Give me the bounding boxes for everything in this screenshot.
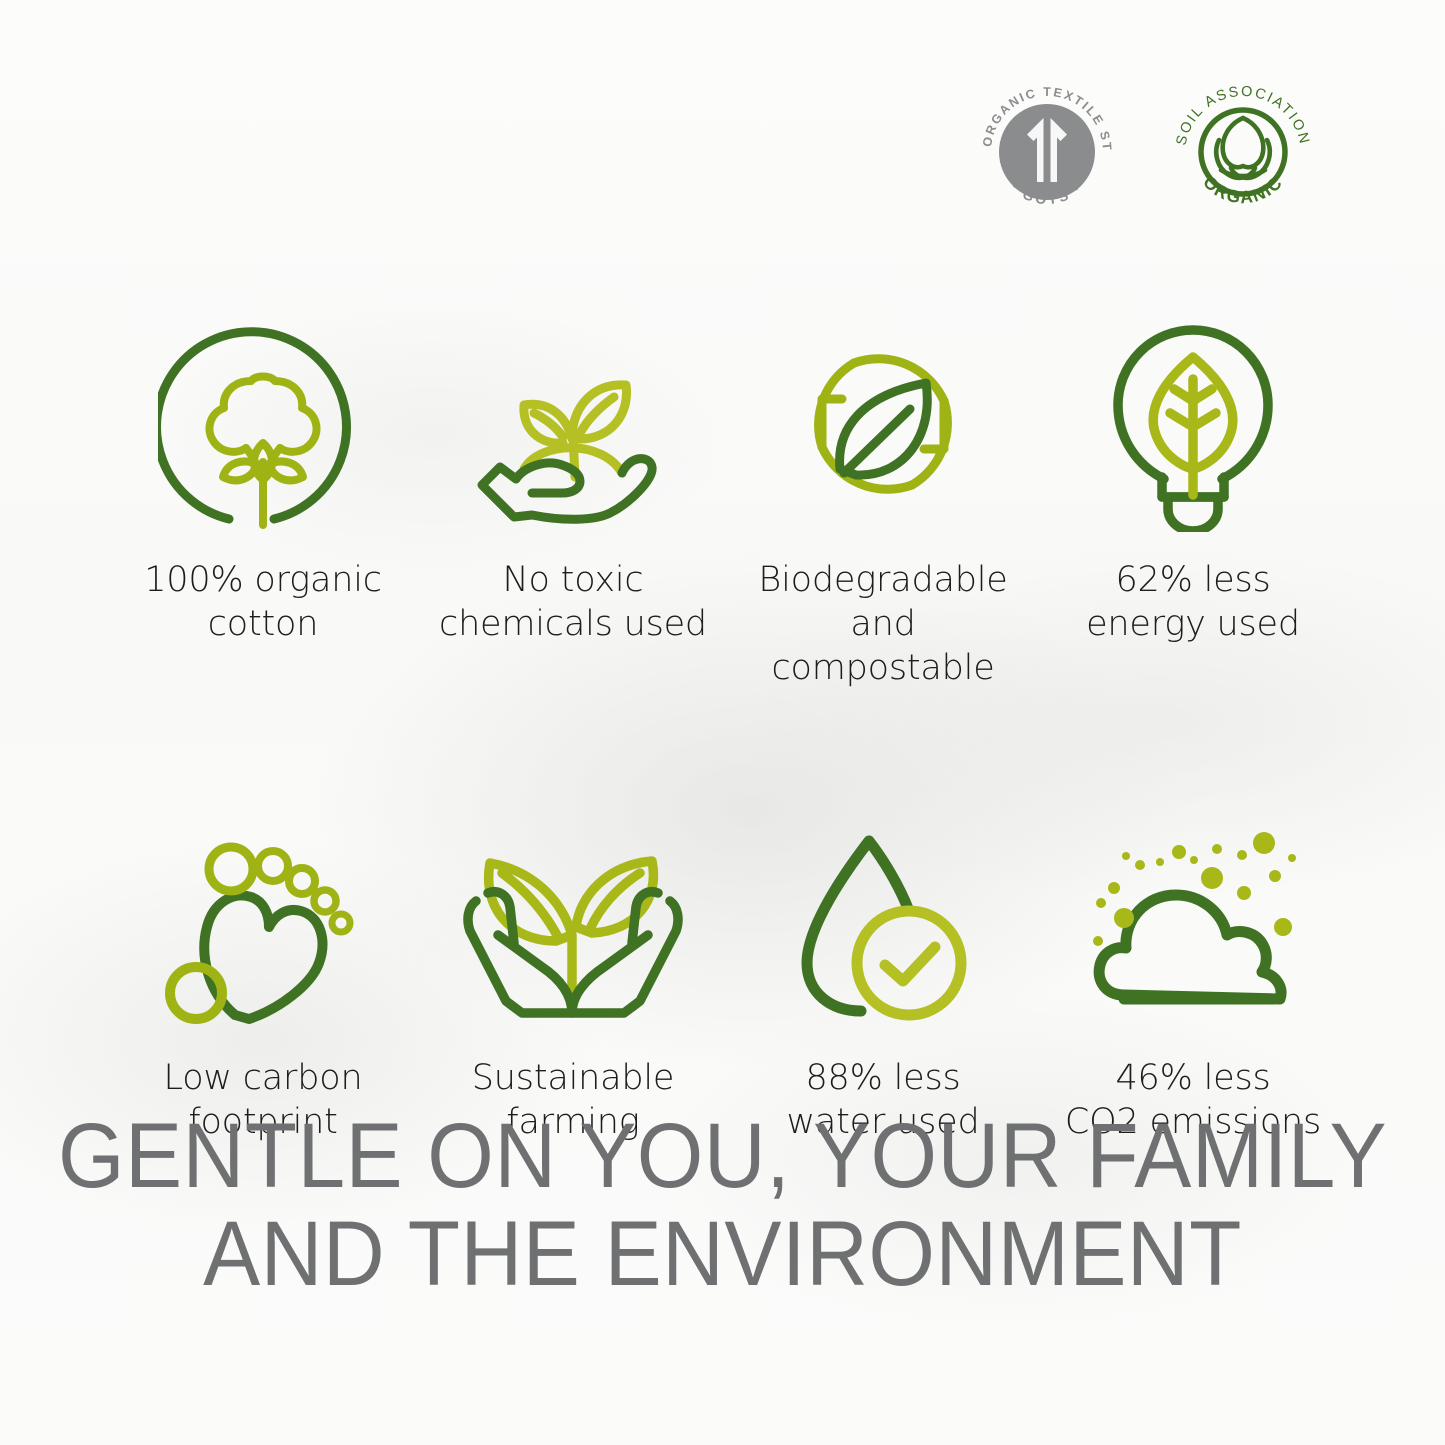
icon-container bbox=[462, 798, 684, 1030]
feature-label: Biodegradable and compostable bbox=[728, 558, 1038, 690]
feature-item-less-energy: 62% less energy used bbox=[1038, 300, 1348, 690]
feature-label: 100% organic cotton bbox=[144, 558, 382, 646]
cloud-emissions-icon bbox=[1084, 815, 1302, 1030]
heart-footprint-icon bbox=[163, 815, 363, 1030]
feature-item-biodegradable: Biodegradable and compostable bbox=[728, 300, 1038, 690]
lightbulb-leaf-icon bbox=[1100, 317, 1286, 532]
icon-container bbox=[163, 798, 363, 1030]
cotton-flower-in-circle-icon bbox=[158, 317, 368, 532]
feature-item-less-co2: 46% less CO2 emissions bbox=[1038, 798, 1348, 1144]
icon-container bbox=[787, 798, 979, 1030]
recycle-arrows-leaf-icon bbox=[778, 317, 988, 532]
hands-holding-plant-icon bbox=[462, 815, 684, 1030]
feature-grid: 100% organic cotton bbox=[108, 300, 1348, 1144]
gots-certification-logo: GLOBAL ORGANIC TEXTILE STANDARD · GOTS · bbox=[973, 78, 1121, 226]
infographic-page: GLOBAL ORGANIC TEXTILE STANDARD · GOTS · bbox=[0, 0, 1445, 1445]
icon-container bbox=[158, 300, 368, 532]
icon-container bbox=[1084, 798, 1302, 1030]
svg-text:SOIL ASSOCIATION: SOIL ASSOCIATION bbox=[1174, 84, 1313, 147]
feature-item-low-carbon-footprint: Low carbon footprint bbox=[108, 798, 418, 1144]
feature-item-organic-cotton: 100% organic cotton bbox=[108, 300, 418, 690]
feature-item-less-water: 88% less water used bbox=[728, 798, 1038, 1144]
feature-item-sustainable-farming: Sustainable farming bbox=[418, 798, 728, 1144]
icon-container bbox=[778, 300, 988, 532]
icon-container bbox=[1100, 300, 1286, 532]
water-drop-check-icon bbox=[787, 815, 979, 1030]
hand-holding-sprout-icon bbox=[462, 317, 684, 532]
icon-container bbox=[462, 300, 684, 532]
feature-label: No toxic chemicals used bbox=[439, 558, 707, 646]
soil-association-organic-logo: SOIL ASSOCIATION ORGANIC bbox=[1169, 78, 1317, 226]
headline-text: GENTLE ON YOU, YOUR FAMILY AND THE ENVIR… bbox=[51, 1108, 1395, 1303]
feature-item-no-toxic-chemicals: No toxic chemicals used bbox=[418, 300, 728, 690]
feature-label: 62% less energy used bbox=[1086, 558, 1300, 646]
certification-logos: GLOBAL ORGANIC TEXTILE STANDARD · GOTS · bbox=[973, 78, 1317, 226]
